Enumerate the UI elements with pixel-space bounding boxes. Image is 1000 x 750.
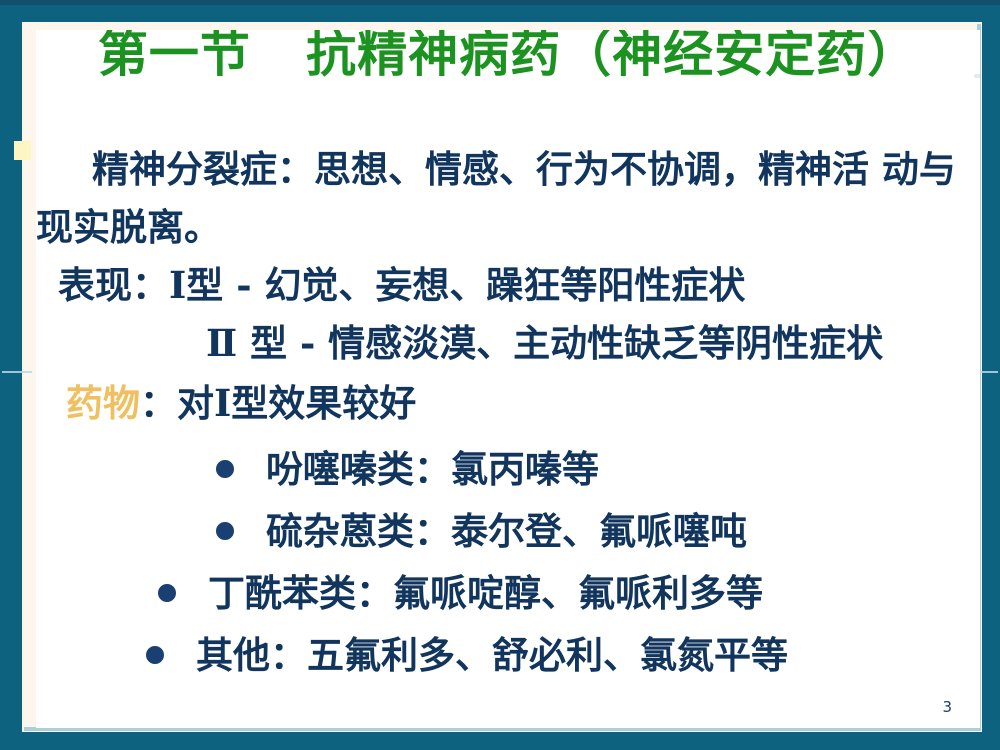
paragraph-schizophrenia: 精神分裂症：思想、情感、行为不协调，精神活 动与现实脱离。 (36, 140, 980, 256)
list-item-label: 硫杂蒽类：泰尔登、氟哌噻吨 (266, 509, 747, 553)
paragraph-drugs-heading: 药物：对Ⅰ型效果较好 (36, 374, 980, 432)
slide-body: 精神分裂症：思想、情感、行为不协调，精神活 动与现实脱离。 表现：Ⅰ型 - 幻觉… (36, 140, 980, 686)
bullet-dot-icon (146, 646, 164, 664)
drugs-label-rest: ：对Ⅰ型效果较好 (140, 381, 416, 425)
paragraph-type-1-symptoms: 表现：Ⅰ型 - 幻觉、妄想、躁狂等阳性症状 (36, 256, 980, 314)
drug-class-list: 吩噻嗪类：氯丙嗪等 硫杂蒽类：泰尔登、氟哌噻吨 丁酰苯类：氟哌啶醇、氟哌利多等 … (36, 438, 980, 686)
frame-top-hairline (0, 0, 1000, 5)
drugs-label: 药物 (66, 381, 140, 425)
bullet-dot-icon (216, 522, 234, 540)
slide: 第一节 抗精神病药（神经安定药） 精神分裂症：思想、情感、行为不协调，精神活 动… (0, 0, 1000, 750)
list-item: 丁酰苯类：氟哌啶醇、氟哌利多等 (36, 562, 980, 624)
left-edge-marker (14, 141, 31, 160)
bullet-dot-icon (158, 584, 176, 602)
list-item: 硫杂蒽类：泰尔登、氟哌噻吨 (36, 500, 980, 562)
list-item-label: 丁酰苯类：氟哌啶醇、氟哌利多等 (208, 571, 763, 615)
list-item: 吩噻嗪类：氯丙嗪等 (36, 438, 980, 500)
slide-title: 第一节 抗精神病药（神经安定药） (36, 30, 980, 84)
slide-canvas: 第一节 抗精神病药（神经安定药） 精神分裂症：思想、情感、行为不协调，精神活 动… (36, 30, 980, 728)
left-edge-tick (2, 371, 32, 373)
list-item-label: 吩噻嗪类：氯丙嗪等 (266, 447, 599, 491)
paragraph-type-2-symptoms: Ⅱ 型 - 情感淡漠、主动性缺乏等阴性症状 (36, 314, 980, 372)
page-number: 3 (942, 698, 952, 716)
list-item: 其他：五氟利多、舒必利、氯氮平等 (36, 624, 980, 686)
bullet-dot-icon (216, 460, 234, 478)
list-item-label: 其他：五氟利多、舒必利、氯氮平等 (196, 633, 788, 677)
